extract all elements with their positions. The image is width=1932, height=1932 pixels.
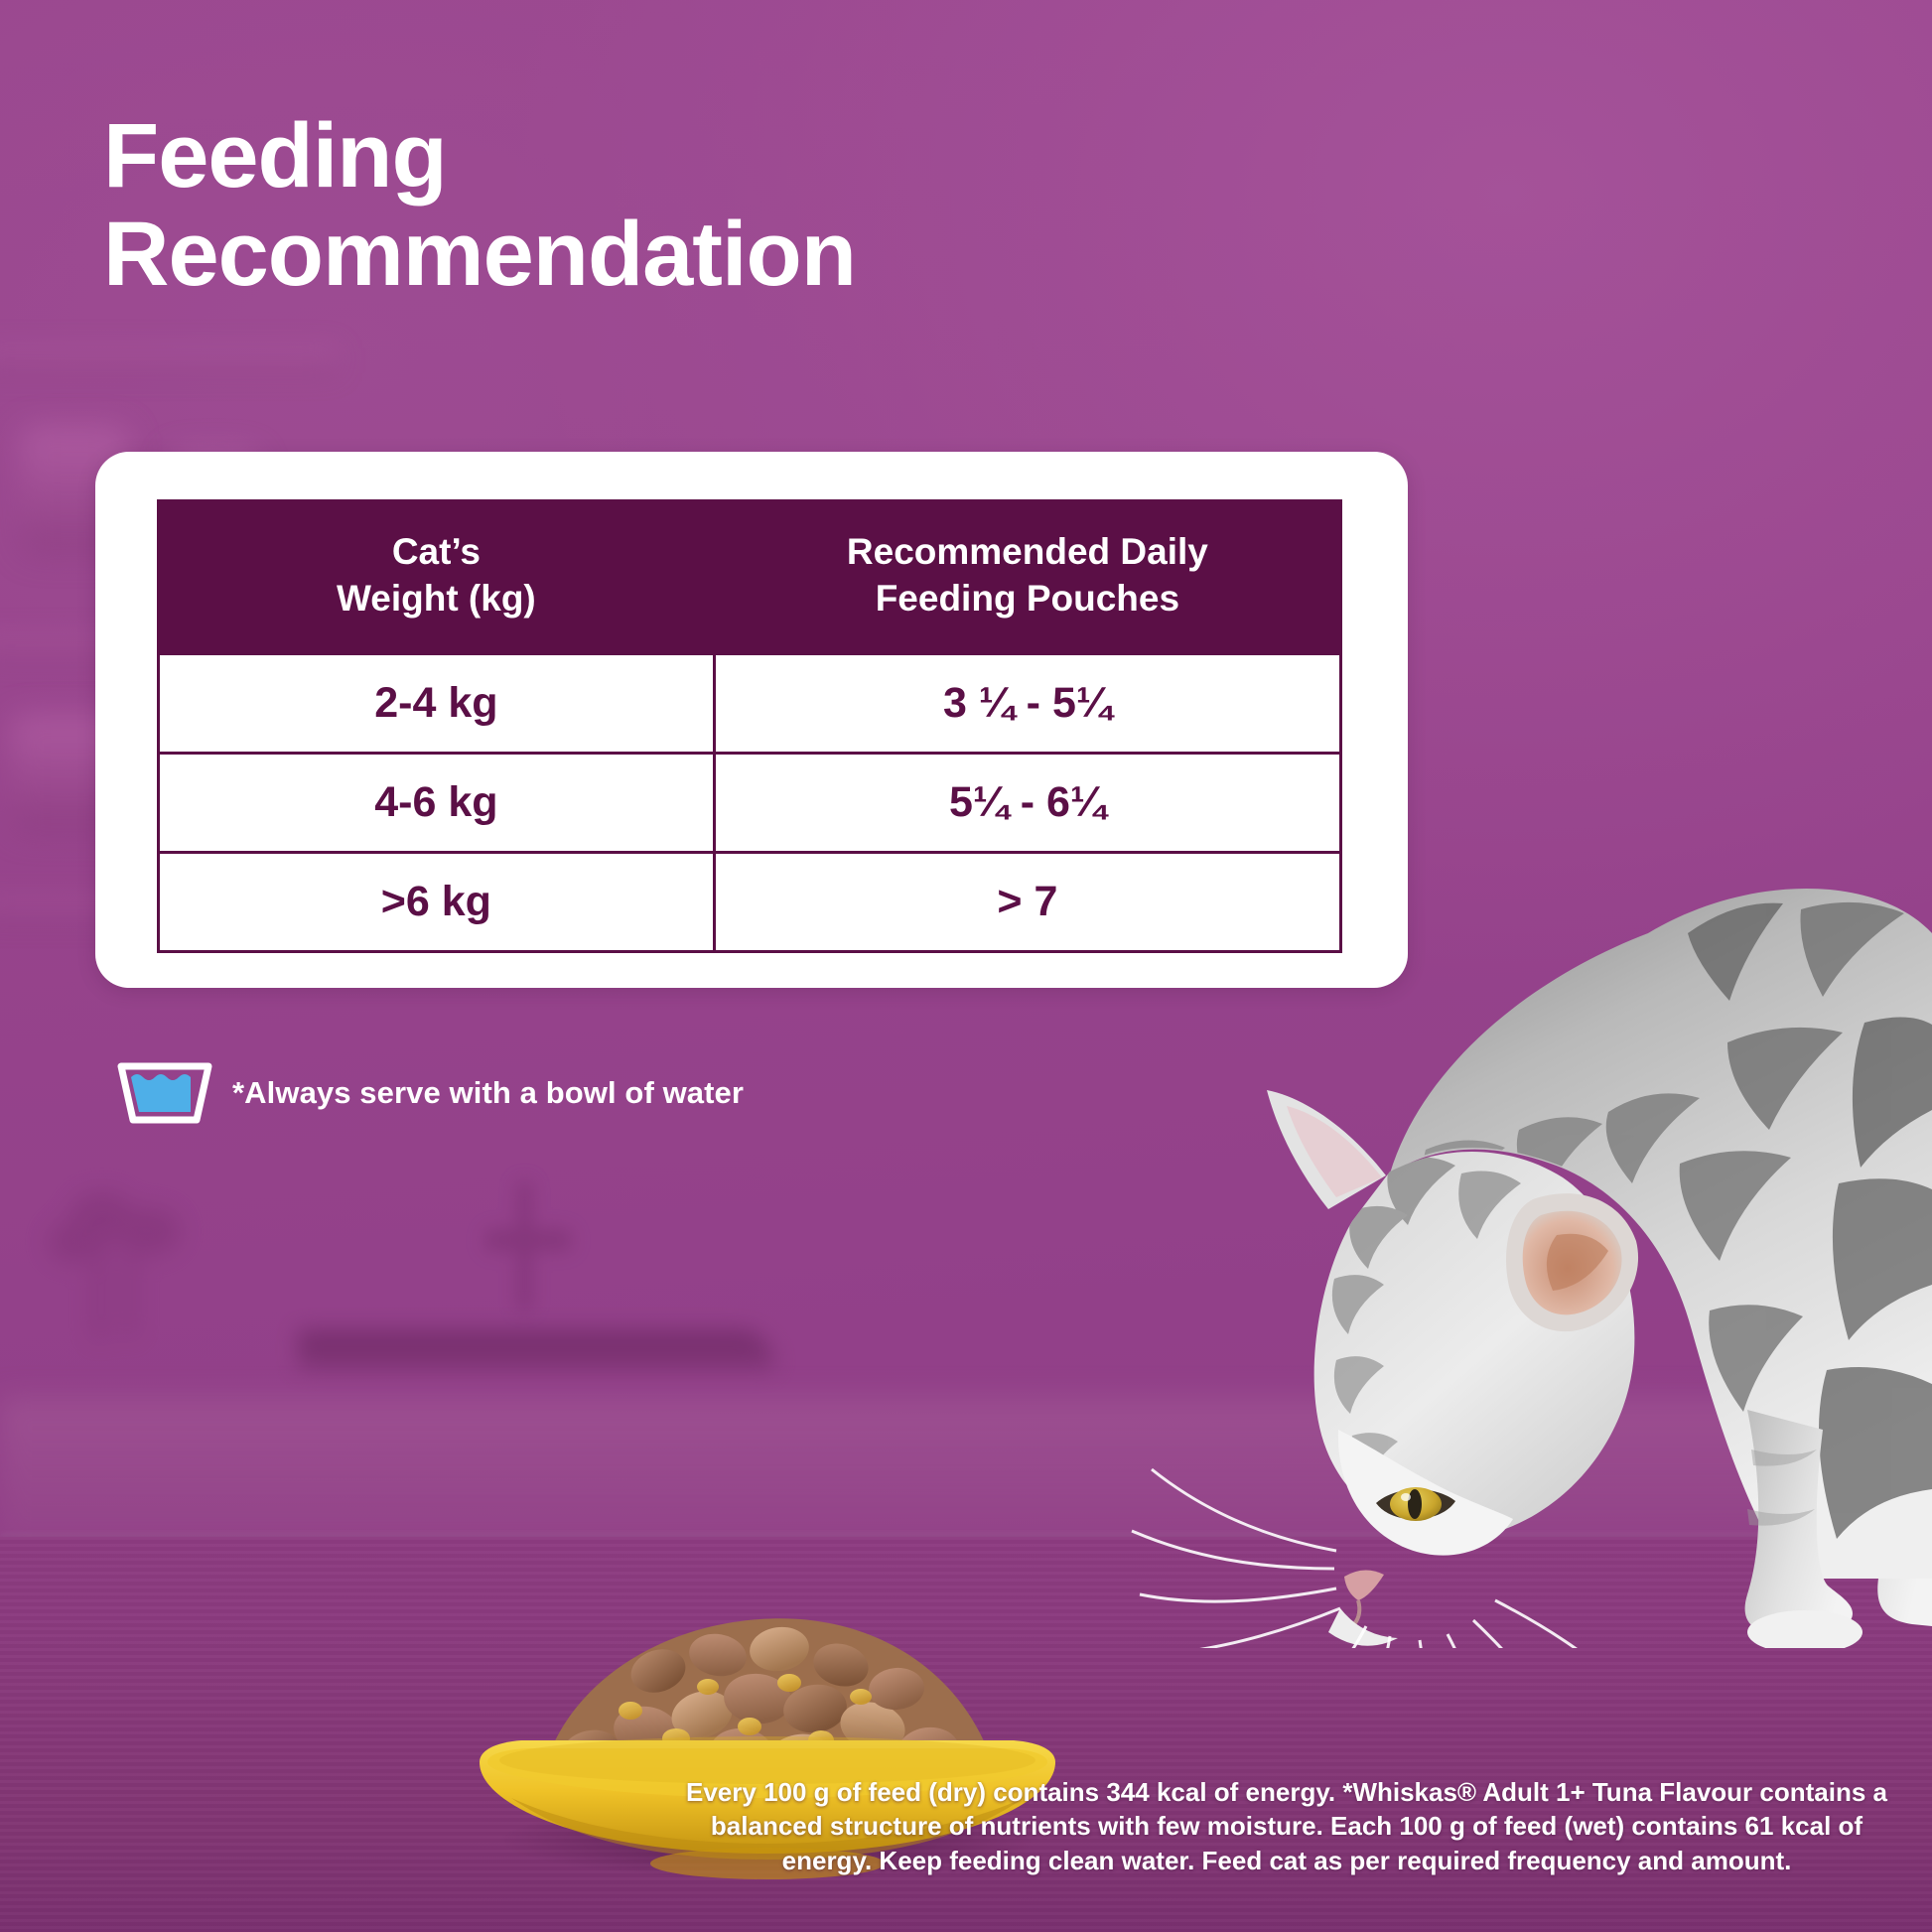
background-faucet (427, 1181, 625, 1350)
background-plant (30, 1181, 208, 1360)
table-header-row: Cat’s Weight (kg) Recommended Daily Feed… (159, 501, 1341, 654)
background-shelf (0, 347, 338, 373)
page-title: Feeding Recommendation (103, 107, 1195, 305)
water-note-label: *Always serve with a bowl of water (232, 1075, 744, 1111)
column-header-weight-line1: Cat’s (170, 528, 703, 575)
page-title-line1: Feeding (103, 105, 447, 207)
column-header-weight-line2: Weight (kg) (170, 575, 703, 621)
cell-weight: 2-4 kg (159, 653, 715, 753)
feeding-recommendation-page: Feeding Recommendation Cat’s Weight (kg)… (0, 0, 1932, 1932)
water-bowl-icon (117, 1060, 212, 1126)
water-note: *Always serve with a bowl of water (117, 1060, 744, 1126)
column-header-pouches-line2: Feeding Pouches (726, 575, 1329, 621)
footnote-text: Every 100 g of feed (dry) contains 344 k… (671, 1775, 1902, 1878)
cell-weight: >6 kg (159, 852, 715, 951)
column-header-pouches-line1: Recommended Daily (726, 528, 1329, 575)
cell-pouches: 3 ¼ - 5¼ (714, 653, 1340, 753)
column-header-weight: Cat’s Weight (kg) (159, 501, 715, 654)
cat-image (1092, 814, 1932, 1648)
table-row: 2-4 kg 3 ¼ - 5¼ (159, 653, 1341, 753)
background-sink (298, 1330, 774, 1370)
page-title-line2: Recommendation (103, 206, 1195, 304)
cell-weight: 4-6 kg (159, 753, 715, 852)
column-header-pouches: Recommended Daily Feeding Pouches (714, 501, 1340, 654)
